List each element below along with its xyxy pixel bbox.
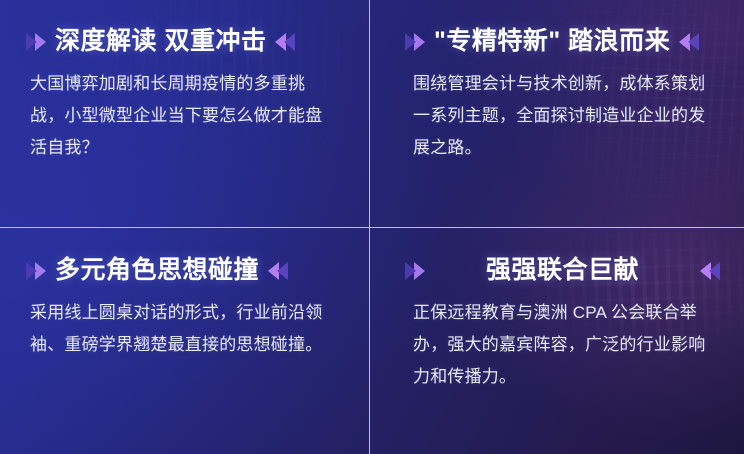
- feature-body: 正保远程教育与澳洲 CPA 公会联合举办，强大的嘉宾阵容，广泛的行业影响力和传播…: [405, 297, 720, 393]
- feature-heading: 强强联合巨献: [405, 257, 720, 285]
- double-chevron-left-icon: [275, 33, 295, 51]
- feature-title: 深度解读 双重冲击: [55, 28, 266, 56]
- feature-body: 围绕管理会计与技术创新，成体系策划一系列主题，全面探讨制造业企业的发展之路。: [405, 68, 720, 164]
- feature-title: "专精特新" 踏浪而来: [434, 28, 670, 56]
- double-chevron-left-icon: [268, 262, 288, 280]
- feature-heading: "专精特新" 踏浪而来: [405, 28, 720, 56]
- feature-cell-multi-role-collision: 多元角色思想碰撞 采用线上圆桌对话的形式，行业前沿领袖、重磅学界翘楚最直接的思想…: [0, 227, 369, 454]
- feature-heading: 多元角色思想碰撞: [26, 257, 335, 285]
- double-chevron-left-icon: [679, 33, 699, 51]
- double-chevron-right-icon: [26, 262, 46, 280]
- feature-title: 多元角色思想碰撞: [55, 257, 259, 285]
- feature-cell-deep-interpretation: 深度解读 双重冲击 大国博弈加剧和长周期疫情的多重挑战，小型微型企业当下要怎么做…: [0, 0, 369, 227]
- feature-grid: 深度解读 双重冲击 大国博弈加剧和长周期疫情的多重挑战，小型微型企业当下要怎么做…: [0, 0, 744, 454]
- feature-cell-specialized-new: "专精特新" 踏浪而来 围绕管理会计与技术创新，成体系策划一系列主题，全面探讨制…: [369, 0, 744, 227]
- feature-cell-strong-alliance: 强强联合巨献 正保远程教育与澳洲 CPA 公会联合举办，强大的嘉宾阵容，广泛的行…: [369, 227, 744, 454]
- double-chevron-right-icon: [405, 262, 425, 280]
- double-chevron-left-icon: [700, 262, 720, 280]
- promo-poster: 深度解读 双重冲击 大国博弈加剧和长周期疫情的多重挑战，小型微型企业当下要怎么做…: [0, 0, 744, 454]
- feature-title: 强强联合巨献: [486, 257, 639, 285]
- feature-body: 大国博弈加剧和长周期疫情的多重挑战，小型微型企业当下要怎么做才能盘活自我？: [26, 68, 335, 164]
- feature-heading: 深度解读 双重冲击: [26, 28, 335, 56]
- double-chevron-right-icon: [26, 33, 46, 51]
- double-chevron-right-icon: [405, 33, 425, 51]
- feature-body: 采用线上圆桌对话的形式，行业前沿领袖、重磅学界翘楚最直接的思想碰撞。: [26, 297, 335, 361]
